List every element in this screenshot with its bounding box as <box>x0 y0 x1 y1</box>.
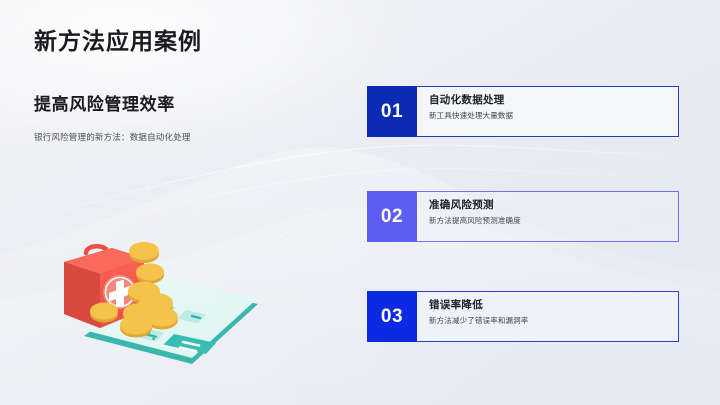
page-title: 新方法应用案例 <box>34 22 202 56</box>
lead-description: 银行风险管理的新方法：数据自动化处理 <box>34 131 191 143</box>
card-number-badge-02: 02 <box>367 191 417 242</box>
feature-card-03[interactable]: 03 错误率降低 新方法减少了错误率和漏洞率 <box>367 291 679 342</box>
card-number-badge-03: 03 <box>367 291 417 342</box>
card-body-03: 错误率降低 新方法减少了错误率和漏洞率 <box>417 291 679 342</box>
card-description-01: 新工具快速处理大量数据 <box>429 111 678 121</box>
card-description-03: 新方法减少了错误率和漏洞率 <box>429 316 678 326</box>
section-subtitle: 提高风险管理效率 <box>34 90 175 115</box>
card-number-badge-01: 01 <box>367 86 417 137</box>
card-body-01: 自动化数据处理 新工具快速处理大量数据 <box>417 86 679 137</box>
card-title-03: 错误率降低 <box>429 299 678 312</box>
card-description-02: 新方法提高风险预测准确度 <box>429 216 678 226</box>
slide-root: 新方法应用案例 提高风险管理效率 银行风险管理的新方法：数据自动化处理 <box>0 0 720 405</box>
card-title-01: 自动化数据处理 <box>429 94 678 107</box>
card-body-02: 准确风险预测 新方法提高风险预测准确度 <box>417 191 679 242</box>
feature-card-01[interactable]: 01 自动化数据处理 新工具快速处理大量数据 <box>367 86 679 137</box>
feature-card-02[interactable]: 02 准确风险预测 新方法提高风险预测准确度 <box>367 191 679 242</box>
first-aid-kit-coins-calculator-illustration <box>40 218 300 378</box>
card-title-02: 准确风险预测 <box>429 199 678 212</box>
